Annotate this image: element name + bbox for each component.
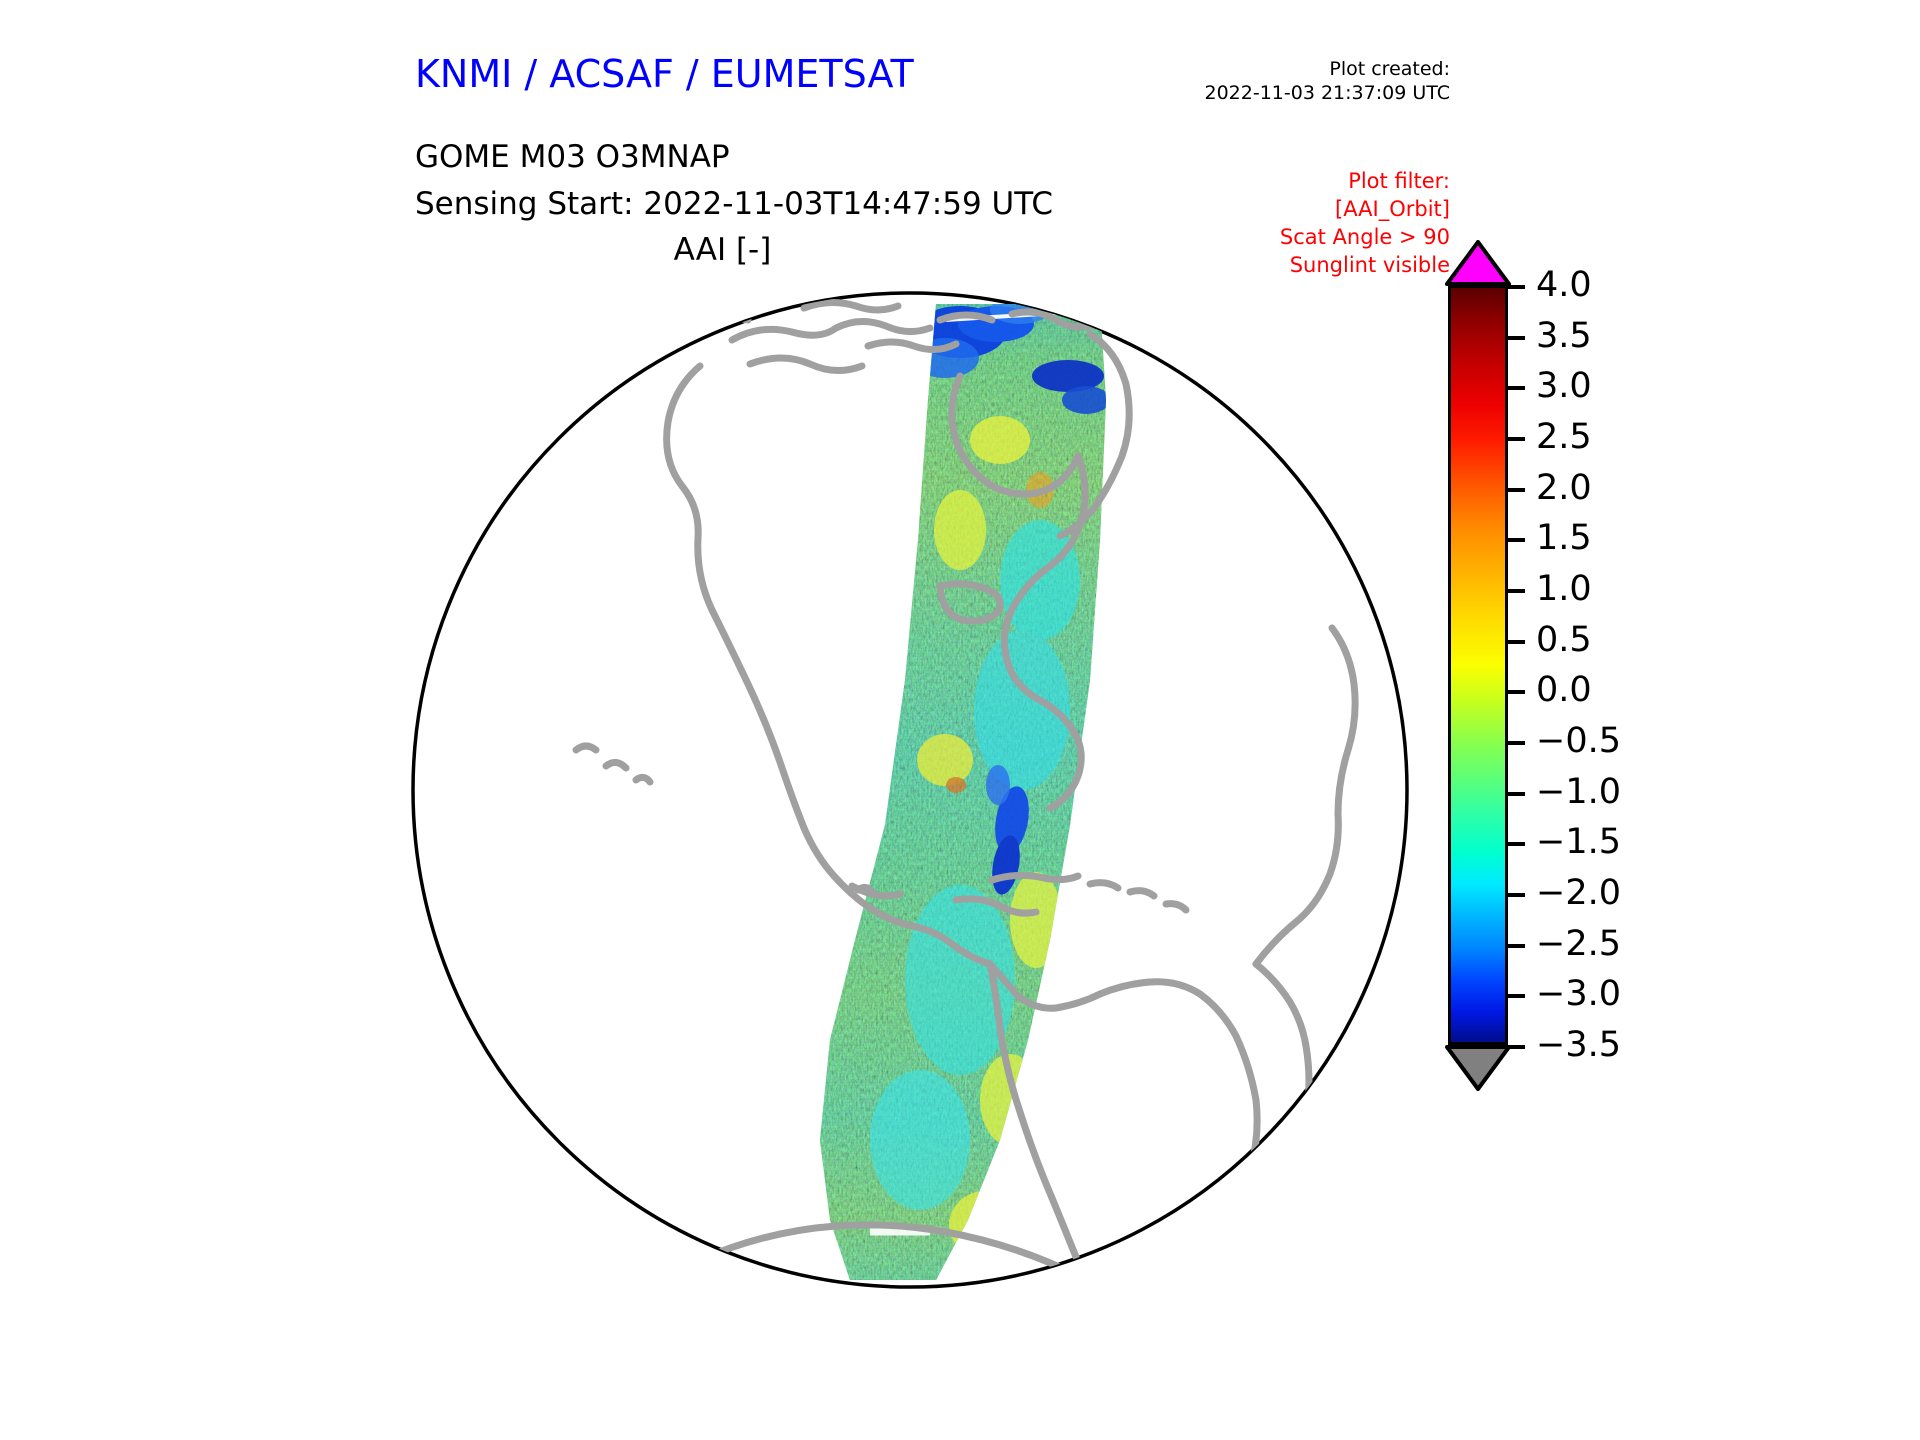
map-panel xyxy=(400,280,1420,1300)
colorbar-tick xyxy=(1508,944,1525,948)
colorbar-tick-label: 1.5 xyxy=(1536,518,1592,558)
colorbar: 4.03.53.02.52.01.51.00.50.0−0.5−1.0−1.5−… xyxy=(1448,285,1508,1045)
colorbar-gradient xyxy=(1448,285,1508,1045)
colorbar-tick xyxy=(1508,386,1525,390)
colorbar-tick-label: 3.5 xyxy=(1536,316,1592,356)
colorbar-tick xyxy=(1508,1045,1525,1049)
colorbar-tick xyxy=(1508,538,1525,542)
colorbar-tick xyxy=(1508,792,1525,796)
plot-created-block: Plot created: 2022-11-03 21:37:09 UTC xyxy=(1205,58,1451,106)
plot-filter-block: Plot filter: [AAI_Orbit] Scat Angle > 90… xyxy=(1280,168,1450,280)
colorbar-under-range-arrow xyxy=(1445,1045,1511,1091)
colorbar-tick-label: 1.0 xyxy=(1536,569,1592,609)
colorbar-tick xyxy=(1508,640,1525,644)
colorbar-tick-label: −3.5 xyxy=(1536,1025,1621,1065)
plot-created-label: Plot created: xyxy=(1205,58,1451,82)
colorbar-tick-label: 2.0 xyxy=(1536,468,1592,508)
colorbar-tick xyxy=(1508,842,1525,846)
colorbar-over-range-arrow xyxy=(1445,240,1511,286)
colorbar-tick-label: 2.5 xyxy=(1536,417,1592,457)
plot-filter-title: Plot filter: xyxy=(1280,168,1450,196)
colorbar-tick-label: −1.0 xyxy=(1536,772,1621,812)
colorbar-tick xyxy=(1508,336,1525,340)
colorbar-tick-label: −1.5 xyxy=(1536,822,1621,862)
orthographic-globe xyxy=(400,280,1420,1300)
colorbar-tick-label: −0.5 xyxy=(1536,721,1621,761)
product-title: GOME M03 O3MNAP xyxy=(415,139,730,175)
colorbar-tick xyxy=(1508,893,1525,897)
plot-created-timestamp: 2022-11-03 21:37:09 UTC xyxy=(1205,82,1451,106)
colorbar-tick-label: −2.5 xyxy=(1536,924,1621,964)
colorbar-tick xyxy=(1508,994,1525,998)
colorbar-tick-label: −2.0 xyxy=(1536,873,1621,913)
plot-filter-line-1: [AAI_Orbit] xyxy=(1280,196,1450,224)
colorbar-tick-label: 0.5 xyxy=(1536,620,1592,660)
colorbar-tick-label: −3.0 xyxy=(1536,974,1621,1014)
plot-filter-line-2: Scat Angle > 90 xyxy=(1280,224,1450,252)
colorbar-tick xyxy=(1508,488,1525,492)
colorbar-tick-label: 3.0 xyxy=(1536,366,1592,406)
plot-variable-title: AAI [-] xyxy=(0,232,1445,268)
plot-filter-line-3: Sunglint visible xyxy=(1280,252,1450,280)
colorbar-tick xyxy=(1508,741,1525,745)
colorbar-tick xyxy=(1508,437,1525,441)
colorbar-tick-label: 0.0 xyxy=(1536,670,1592,710)
colorbar-tick-label: 4.0 xyxy=(1536,265,1592,305)
organisation-title: KNMI / ACSAF / EUMETSAT xyxy=(415,52,914,96)
sensing-start-line: Sensing Start: 2022-11-03T14:47:59 UTC xyxy=(415,186,1053,222)
colorbar-tick xyxy=(1508,690,1525,694)
colorbar-tick xyxy=(1508,589,1525,593)
colorbar-tick xyxy=(1508,285,1525,289)
